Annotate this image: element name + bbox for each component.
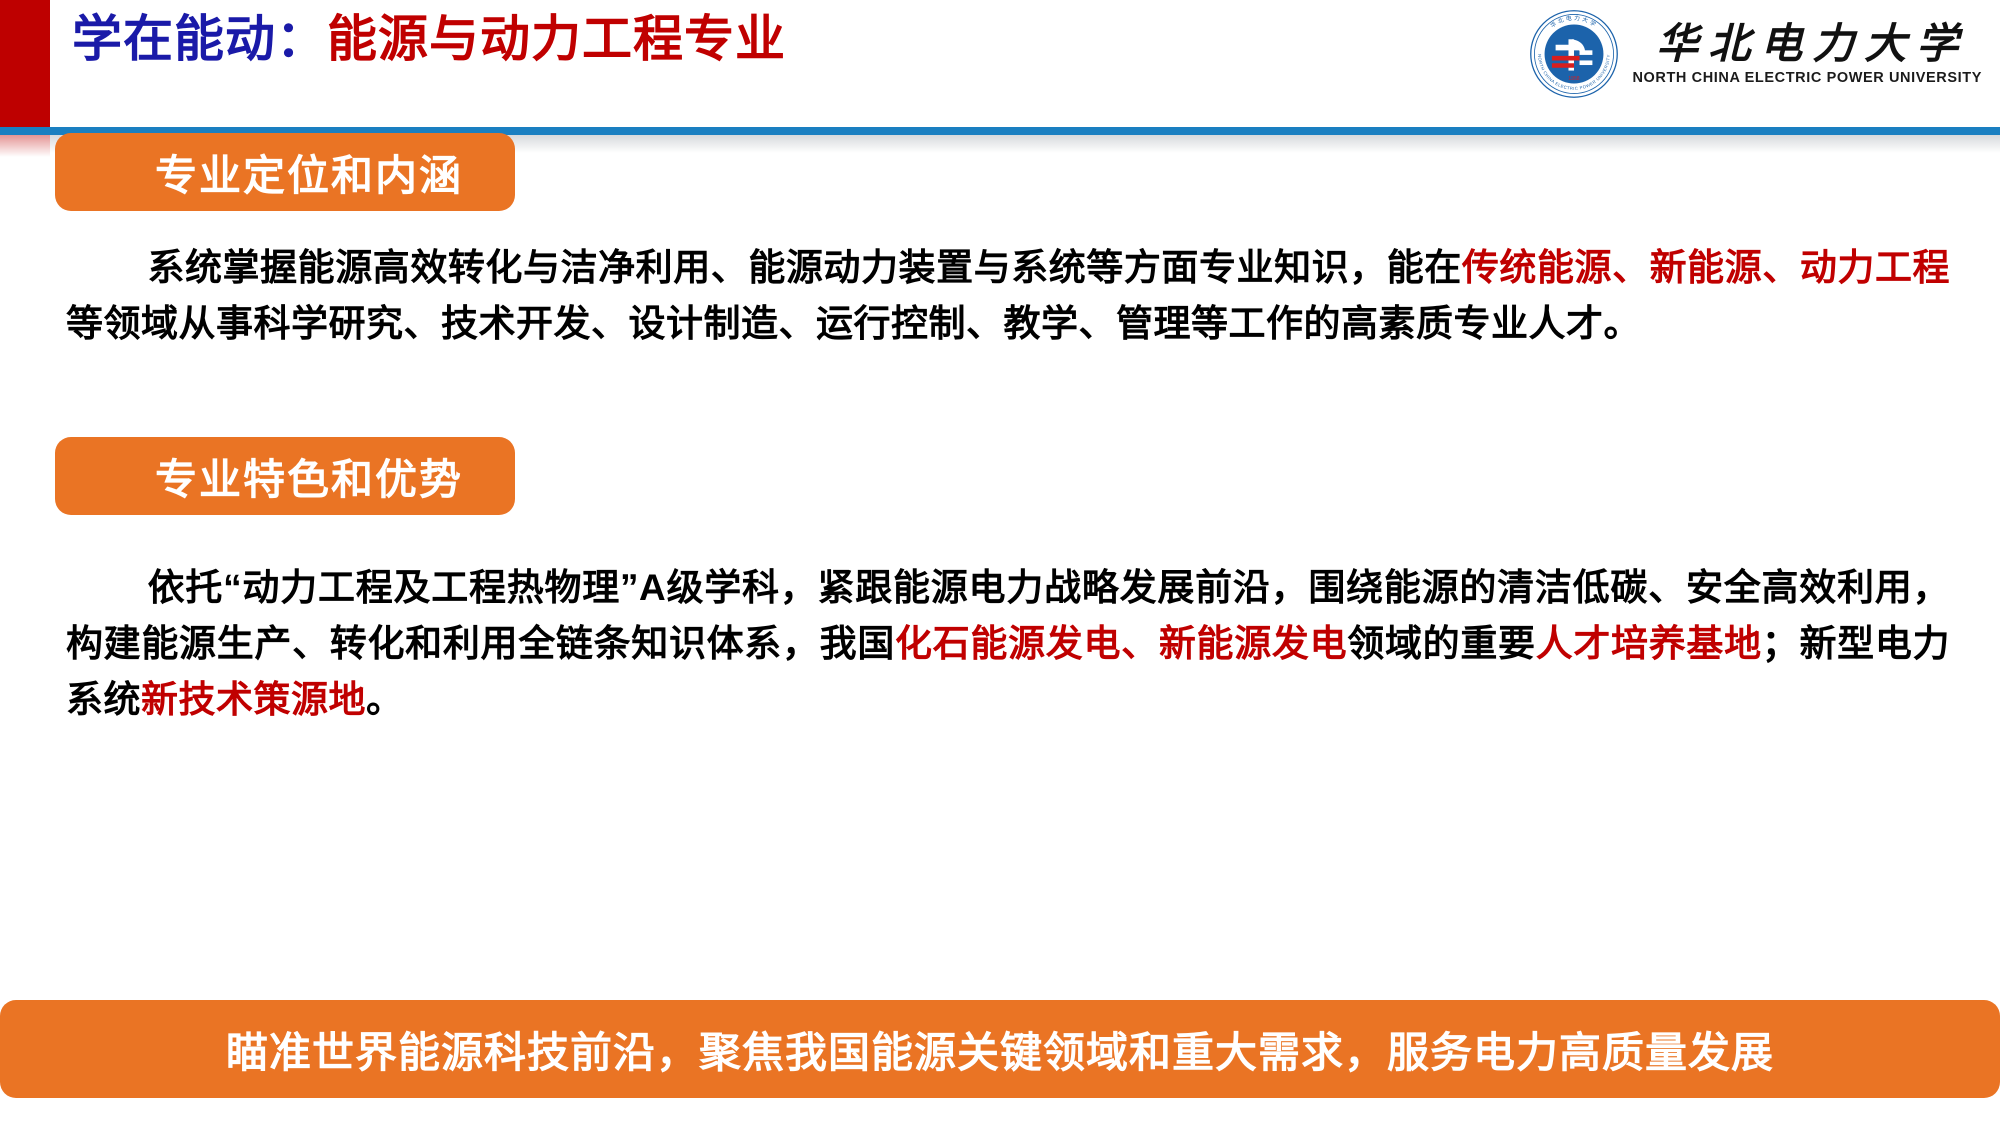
university-emblem-icon: 华北电力大学 NORTH CHINA ELECTRIC POWER UNIVER… [1528, 8, 1620, 100]
header-accent-bar-reflection [0, 135, 50, 157]
page-title-prefix: 学在能动： [72, 11, 327, 67]
emblem-year: 1958 [1569, 76, 1580, 82]
paragraph-run: 领域的重要 [1347, 623, 1535, 664]
university-logo: 华北电力大学 NORTH CHINA ELECTRIC POWER UNIVER… [1528, 8, 1982, 100]
paragraph-run: 系统掌握能源高效转化与洁净利用、能源动力装置与系统等方面专业知识，能在 [147, 247, 1461, 288]
paragraph-run-highlight: 新技术策源地 [141, 679, 366, 720]
footer-slogan-text: 瞄准世界能源科技前沿，聚焦我国能源关键领域和重大需求，服务电力高质量发展 [226, 1019, 1774, 1080]
section-banner-label: 专业定位和内涵 [55, 142, 463, 203]
section-banner-positioning: 专业定位和内涵 [55, 133, 515, 211]
paragraph-run: 等领域从事科学研究、技术开发、设计制造、运行控制、教学、管理等工作的高素质专业人… [66, 303, 1641, 344]
university-name-en: NORTH CHINA ELECTRIC POWER UNIVERSITY [1632, 70, 1982, 86]
slide-header: 学在能动：能源与动力工程专业 华北电力大学 NORTH CHINA ELECTR… [0, 0, 2000, 135]
section-banner-features: 专业特色和优势 [55, 437, 515, 515]
section-body-positioning: 系统掌握能源高效转化与洁净利用、能源动力装置与系统等方面专业知识，能在传统能源、… [66, 240, 1950, 352]
header-accent-bar [0, 0, 50, 127]
university-wordmark: 华北电力大学 NORTH CHINA ELECTRIC POWER UNIVER… [1632, 22, 1982, 85]
section-banner-label: 专业特色和优势 [55, 446, 463, 507]
university-name-cn: 华北电力大学 [1646, 22, 1968, 66]
page-title-main: 能源与动力工程专业 [327, 11, 786, 67]
section-body-features: 依托“动力工程及工程热物理”A级学科，紧跟能源电力战略发展前沿，围绕能源的清洁低… [66, 560, 1950, 728]
paragraph-run-highlight: 传统能源、新能源、动力工程 [1462, 247, 1950, 288]
footer-slogan-banner: 瞄准世界能源科技前沿，聚焦我国能源关键领域和重大需求，服务电力高质量发展 [0, 1000, 2000, 1098]
paragraph-run-highlight: 化石能源发电、新能源发电 [895, 623, 1347, 664]
paragraph-run: 。 [366, 679, 404, 720]
page-title: 学在能动：能源与动力工程专业 [72, 14, 786, 64]
paragraph-run-highlight: 人才培养基地 [1536, 623, 1762, 664]
